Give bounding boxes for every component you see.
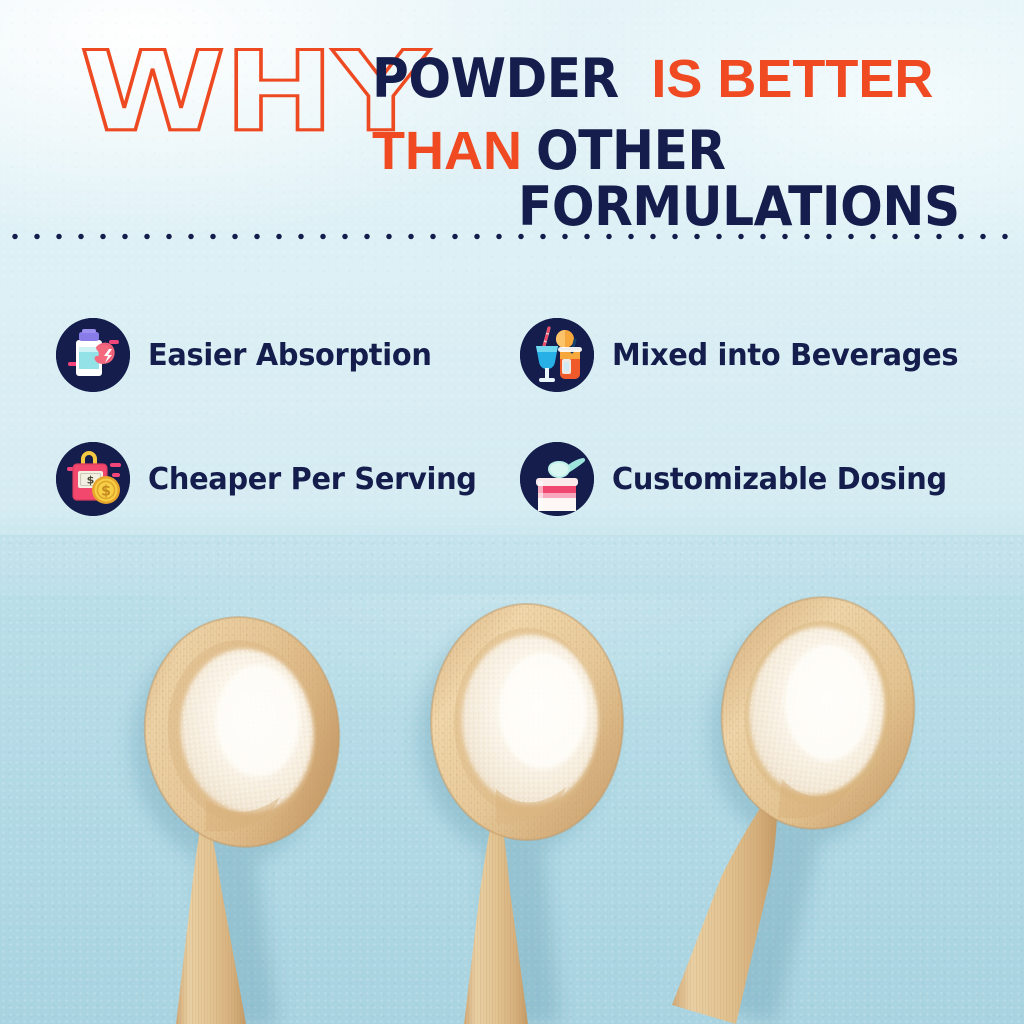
headline-line-2: THAN OTHER bbox=[372, 124, 740, 178]
headline-line-3: FORMULATIONS bbox=[518, 180, 993, 234]
headline-other: OTHER bbox=[536, 124, 726, 178]
price-tag-coin-icon: $ $ bbox=[56, 442, 130, 516]
headline-line-1: POWDER IS BETTER bbox=[372, 52, 933, 106]
spoons-photo bbox=[0, 535, 1024, 1024]
supplement-bottle-stomach-icon bbox=[56, 318, 130, 392]
infographic-poster: WHY POWDER IS BETTER THAN OTHER FORMULAT… bbox=[0, 0, 1024, 1024]
feature-item-customizable-dosing: Customizable Dosing bbox=[520, 442, 961, 516]
feature-label-easier-absorption: Easier Absorption bbox=[148, 338, 432, 373]
feature-label-mixed-into-beverages: Mixed into Beverages bbox=[612, 338, 958, 373]
headline-formulations: FORMULATIONS bbox=[518, 180, 960, 234]
headline-powder: POWDER bbox=[372, 52, 619, 106]
feature-label-customizable-dosing: Customizable Dosing bbox=[612, 462, 947, 497]
feature-item-mixed-into-beverages: Mixed into Beverages bbox=[520, 318, 973, 392]
headline-is-better: IS BETTER bbox=[651, 52, 933, 106]
feature-item-easier-absorption: Easier Absorption bbox=[56, 318, 443, 392]
feature-list: Easier Absorption bbox=[0, 300, 1024, 540]
wooden-spoon-right bbox=[672, 586, 927, 1024]
drinks-glasses-icon bbox=[520, 318, 594, 392]
feature-item-cheaper-per-serving: $ $ Cheaper Per Serving bbox=[56, 442, 490, 516]
headline-than: THAN bbox=[372, 124, 522, 178]
svg-text:$: $ bbox=[101, 484, 111, 500]
headline-block: WHY POWDER IS BETTER THAN OTHER FORMULAT… bbox=[0, 0, 1024, 225]
powder-tub-scoop-icon bbox=[520, 442, 594, 516]
feature-label-cheaper-per-serving: Cheaper Per Serving bbox=[148, 462, 477, 497]
dotted-divider bbox=[0, 231, 1024, 242]
